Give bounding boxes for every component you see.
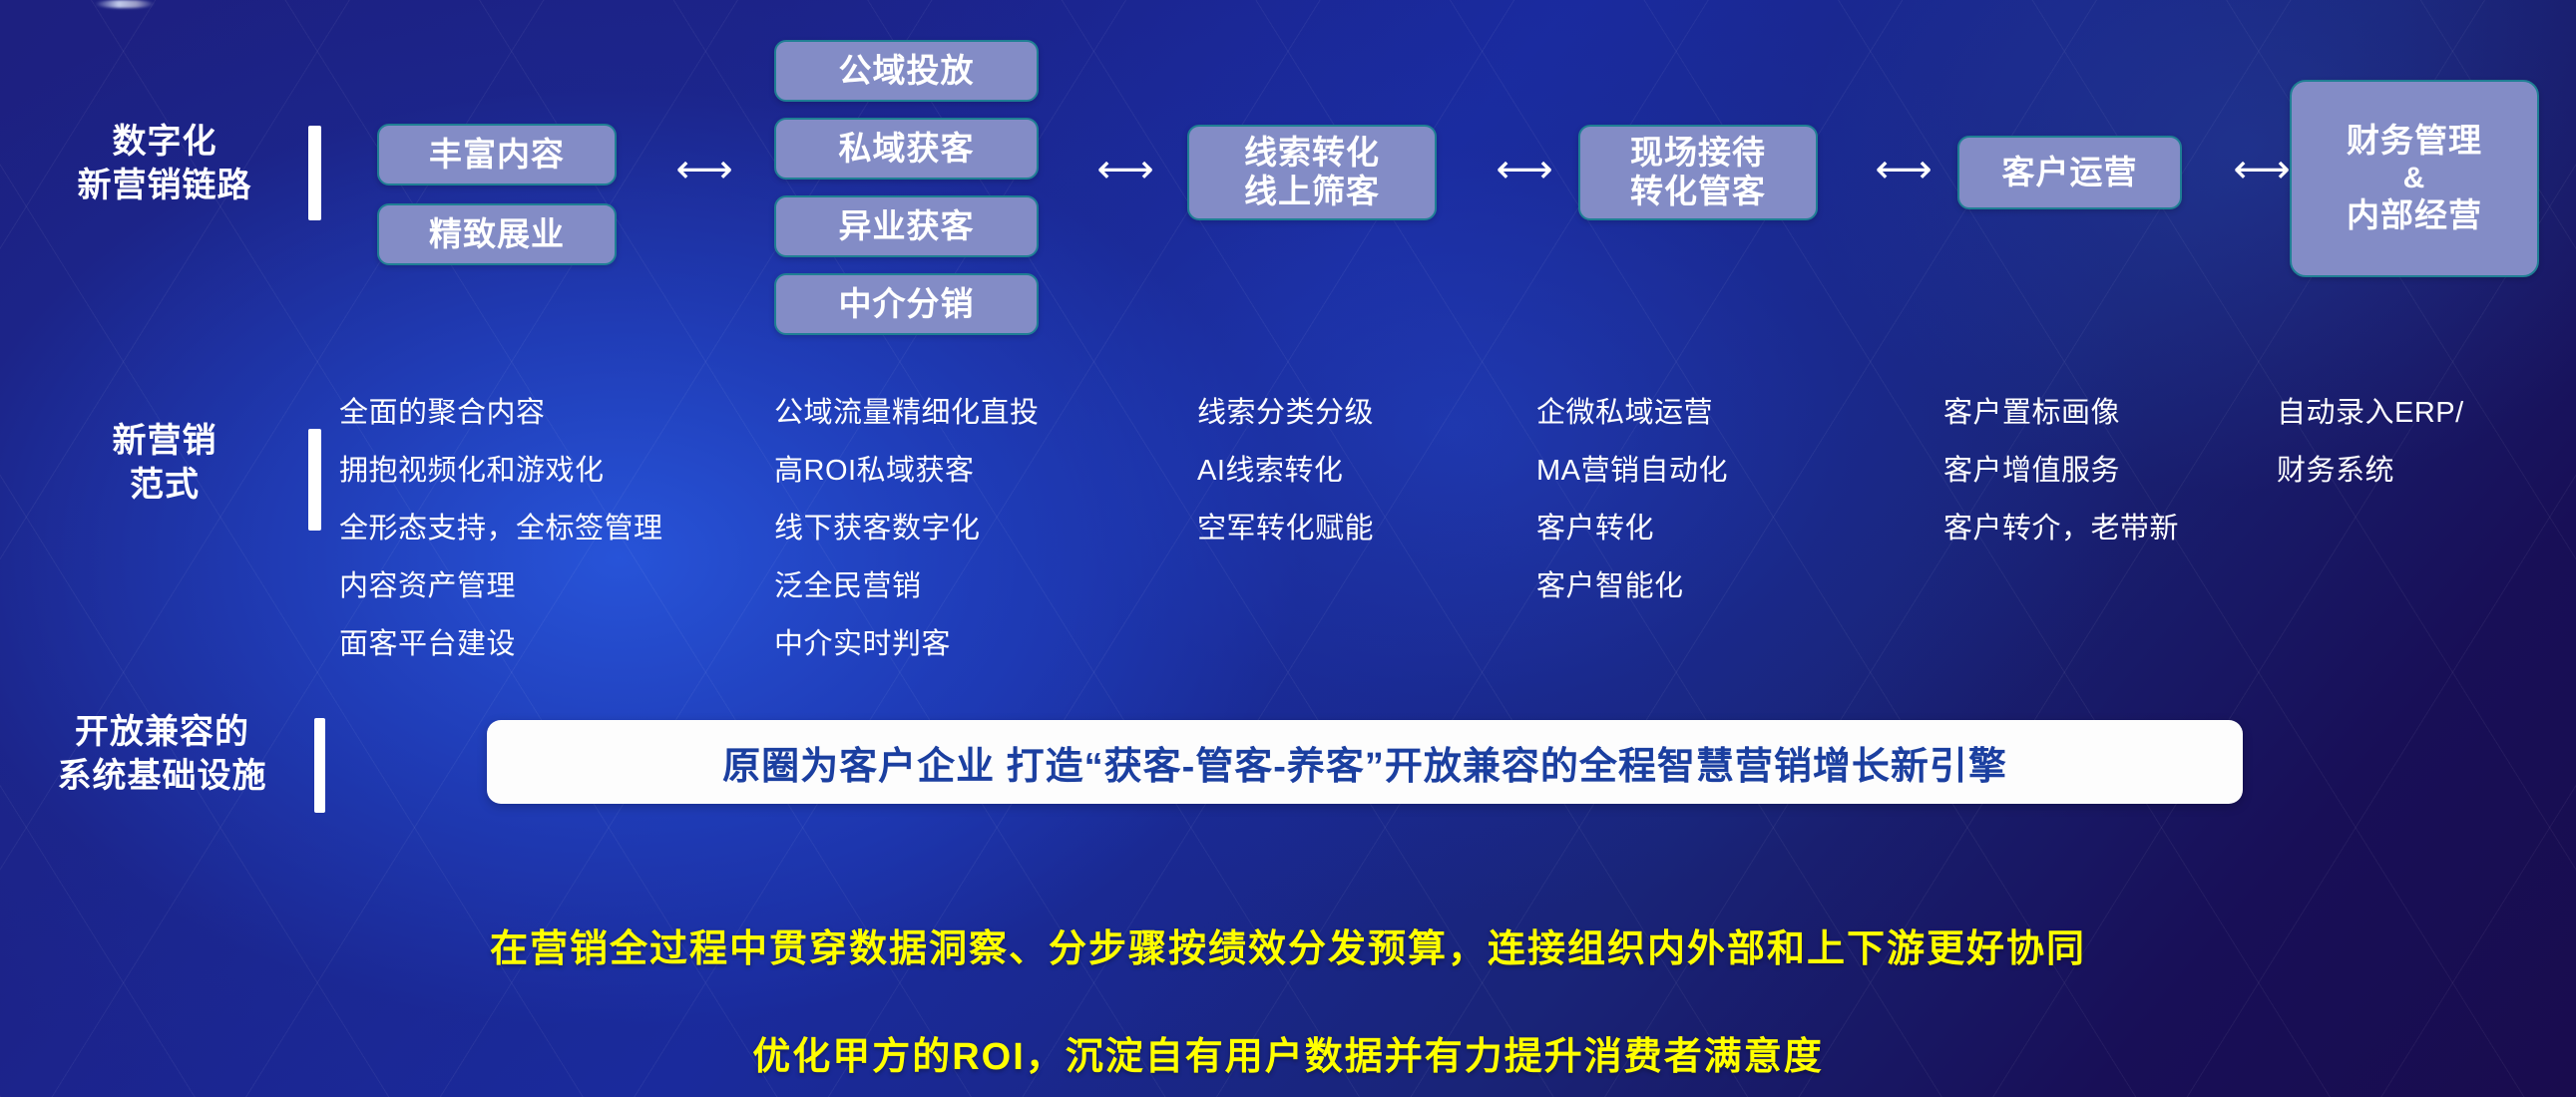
list-item: 泛全民营销 [774,562,1040,604]
flow-arrow-3: ⟷ [1465,150,1584,189]
chip-stage2-0[interactable]: 公域投放 [774,40,1039,102]
list-item: 线索分类分级 [1197,389,1374,431]
list-item: 线下获客数字化 [774,505,1040,547]
chip-label: 精致展业 [429,215,565,254]
list-item: 高ROI私域获客 [774,447,1040,489]
chip-stage1-1[interactable]: 精致展业 [377,203,617,265]
list-item: 企微私域运营 [1536,389,1728,431]
chip-stage6-0[interactable]: 财务管理 & 内部经营 [2290,80,2539,277]
list-item: 全面的聚合内容 [339,389,663,431]
list-item: 公域流量精细化直投 [774,389,1040,431]
row-label-open-infrastructure: 开放兼容的 系统基础设施 [25,710,299,798]
bullet-list-stage2: 公域流量精细化直投 高ROI私域获客 线下获客数字化 泛全民营销 中介实时判客 [774,389,1040,678]
list-item: MA营销自动化 [1536,447,1728,489]
list-item: 客户智能化 [1536,562,1728,604]
list-item: 全形态支持，全标签管理 [339,505,663,547]
chip-stage2-2[interactable]: 异业获客 [774,195,1039,257]
chip-label: 客户运营 [2002,154,2138,192]
chip-label-line2: 转化管客 [1630,173,1766,211]
headline-banner: 原圈为客户企业 打造“获客-管客-养客”开放兼容的全程智慧营销增长新引擎 [487,720,2243,804]
row2-label-line1: 新营销 [40,419,289,463]
list-item: 拥抱视频化和游戏化 [339,447,663,489]
list-item: 自动录入ERP/ [2277,389,2464,431]
bullet-list-stage6: 自动录入ERP/ 财务系统 [2277,389,2464,505]
chip-label: 丰富内容 [429,136,565,175]
chip-stage3-0[interactable]: 线索转化 线上筛客 [1187,125,1437,220]
footer-line-1: 在营销全过程中贯穿数据洞察、分步骤按绩效分发预算，连接组织内外部和上下游更好协同 [0,917,2576,972]
list-item: AI线索转化 [1197,447,1374,489]
chip-stage1-0[interactable]: 丰富内容 [377,124,617,185]
list-item: 财务系统 [2277,447,2464,489]
list-item: 内容资产管理 [339,562,663,604]
row-label-new-marketing-paradigm: 新营销 范式 [40,419,289,507]
chip-label: 中介分销 [839,285,975,324]
flow-arrow-4: ⟷ [1844,150,1963,189]
row3-divider-bar [314,718,325,813]
chip-label-line2: 线上筛客 [1244,173,1380,211]
flow-arrow-1: ⟷ [644,150,764,189]
chip-label: 公域投放 [839,52,975,91]
chip-label-line3: 内部经营 [2347,196,2482,235]
bullet-list-stage1: 全面的聚合内容 拥抱视频化和游戏化 全形态支持，全标签管理 内容资产管理 面客平… [339,389,663,678]
top-light-artifact [95,0,155,8]
flow-arrow-2: ⟷ [1066,150,1185,189]
list-item: 中介实时判客 [774,620,1040,662]
row3-label-line2: 系统基础设施 [25,754,299,798]
chip-stage2-3[interactable]: 中介分销 [774,273,1039,335]
list-item: 空军转化赋能 [1197,505,1374,547]
row1-label-line2: 新营销链路 [40,164,289,207]
list-item: 客户转化 [1536,505,1728,547]
bullet-list-stage4: 企微私域运营 MA营销自动化 客户转化 客户智能化 [1536,389,1728,620]
arrow-glyph: ⟷ [1096,150,1153,189]
chip-label-line1: 现场接待 [1630,134,1766,173]
list-item: 面客平台建设 [339,620,663,662]
arrow-glyph: ⟷ [1875,150,1932,189]
row2-label-line2: 范式 [40,463,289,507]
chip-label-line1: 线索转化 [1244,134,1380,173]
bullet-list-stage3: 线索分类分级 AI线索转化 空军转化赋能 [1197,389,1374,562]
list-item: 客户置标画像 [1943,389,2179,431]
chip-stage5-0[interactable]: 客户运营 [1957,136,2182,209]
row1-divider-bar [308,126,321,220]
list-item: 客户增值服务 [1943,447,2179,489]
chip-label: 异业获客 [839,207,975,246]
slide-canvas: 数字化 新营销链路 丰富内容 精致展业 ⟷ 公域投放 私域获客 异业获客 中介分… [0,0,2576,1097]
list-item: 客户转介，老带新 [1943,505,2179,547]
chip-label-line2: & [2403,161,2426,195]
arrow-glyph: ⟷ [2233,150,2290,189]
arrow-glyph: ⟷ [1496,150,1552,189]
chip-label-line1: 财务管理 [2347,122,2482,161]
chip-label: 私域获客 [839,130,975,169]
row2-divider-bar [308,429,321,531]
row1-label-line1: 数字化 [40,120,289,164]
footer-line-2: 优化甲方的ROI，沉淀自有用户数据并有力提升消费者满意度 [0,1025,2576,1080]
arrow-glyph: ⟷ [675,150,732,189]
row3-label-line1: 开放兼容的 [25,710,299,754]
chip-stage2-1[interactable]: 私域获客 [774,118,1039,180]
bullet-list-stage5: 客户置标画像 客户增值服务 客户转介，老带新 [1943,389,2179,562]
chip-stage4-0[interactable]: 现场接待 转化管客 [1578,125,1818,220]
headline-banner-text: 原圈为客户企业 打造“获客-管客-养客”开放兼容的全程智慧营销增长新引擎 [722,735,2007,790]
row-label-digital-chain: 数字化 新营销链路 [40,120,289,207]
